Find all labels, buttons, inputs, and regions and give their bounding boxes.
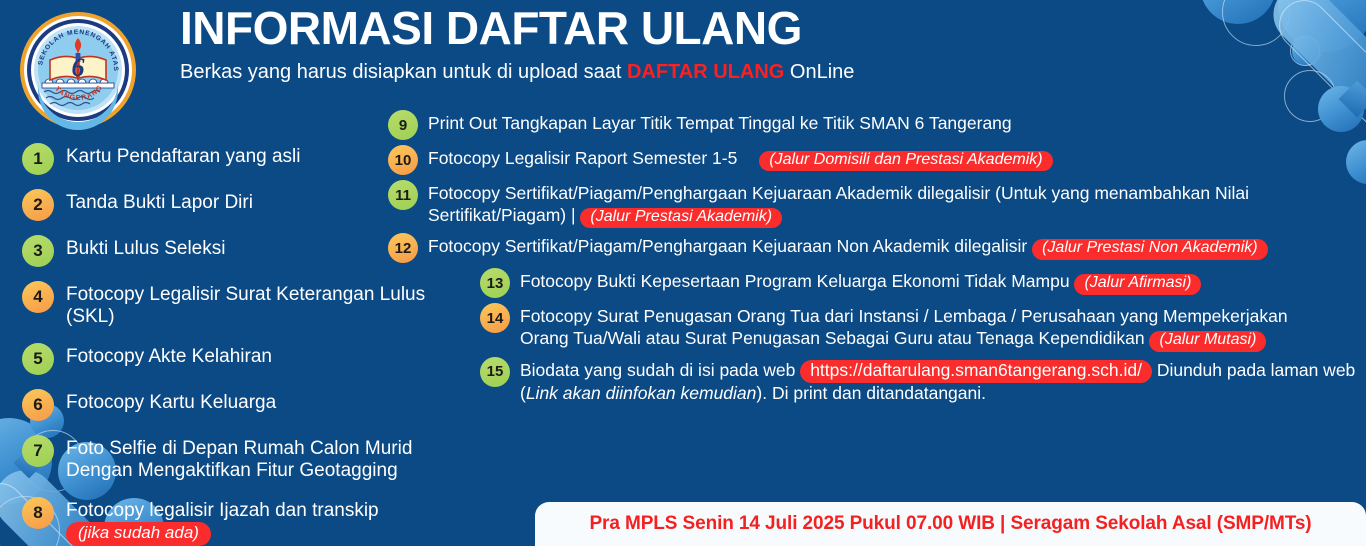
item-text-main: Fotocopy Bukti Kepesertaan Program Kelua… xyxy=(520,271,1074,291)
list-item: 13 Fotocopy Bukti Kepesertaan Program Ke… xyxy=(480,268,1366,298)
list-item: 2 Tanda Bukti Lapor Diri xyxy=(22,189,442,221)
item-text-main: Fotocopy Sertifikat/Piagam/Penghargaan K… xyxy=(428,236,1032,256)
item-tag-pill: (jika sudah ada) xyxy=(66,522,211,546)
page-title: INFORMASI DAFTAR ULANG xyxy=(180,4,1190,54)
item-tag-pill: (Jalur Mutasi) xyxy=(1149,331,1266,351)
subtitle-highlight: DAFTAR ULANG xyxy=(627,61,784,83)
item-text: Print Out Tangkapan Layar Titik Tempat T… xyxy=(428,110,1012,135)
item-text: Biodata yang sudah di isi pada web https… xyxy=(520,357,1366,406)
item-number-badge: 9 xyxy=(388,110,418,140)
item-text: Foto Selfie di Depan Rumah Calon Murid D… xyxy=(66,435,442,483)
item-tag-pill: (Jalur Domisili dan Prestasi Akademik) xyxy=(759,151,1052,171)
list-item: 1 Kartu Pendaftaran yang asli xyxy=(22,143,442,175)
decor-bubble xyxy=(1200,0,1276,24)
item-number-badge: 14 xyxy=(480,303,510,333)
item-number-badge: 13 xyxy=(480,268,510,298)
bottom-banner: Pra MPLS Senin 14 Juli 2025 Pukul 07.00 … xyxy=(535,502,1366,546)
item-number-badge: 12 xyxy=(388,233,418,263)
decor-bubble-ring xyxy=(1290,36,1320,66)
item-text: Fotocopy Sertifikat/Piagam/Penghargaan K… xyxy=(428,180,1366,228)
school-logo-svg: 6 SEKOLAH MENENGAH ATAS NEGERI TANGERANG xyxy=(18,10,138,130)
list-item: 7 Foto Selfie di Depan Rumah Calon Murid… xyxy=(22,435,442,483)
item-tag-pill: (Jalur Prestasi Akademik) xyxy=(580,208,782,228)
biodata-url-link[interactable]: https://daftarulang.sman6tangerang.sch.i… xyxy=(800,360,1152,384)
logo-number: 6 xyxy=(72,53,85,82)
item-number-badge: 8 xyxy=(22,497,54,529)
item-number-badge: 6 xyxy=(22,389,54,421)
item-text-main: Fotocopy Sertifikat/Piagam/Penghargaan K… xyxy=(428,183,1249,225)
poster-root: 6 SEKOLAH MENENGAH ATAS NEGERI TANGERANG… xyxy=(0,0,1366,546)
item-text: Fotocopy Surat Penugasan Orang Tua dari … xyxy=(520,303,1320,351)
right-requirements-list: 9 Print Out Tangkapan Layar Titik Tempat… xyxy=(388,110,1366,410)
item-text-before: Biodata yang sudah di isi pada web xyxy=(520,360,800,380)
item-number-badge: 7 xyxy=(22,435,54,467)
item-text: Fotocopy Bukti Kepesertaan Program Kelua… xyxy=(520,268,1201,294)
item-tag-pill: (Jalur Afirmasi) xyxy=(1074,274,1201,294)
decor-pill xyxy=(1261,0,1366,121)
list-item: 4 Fotocopy Legalisir Surat Keterangan Lu… xyxy=(22,281,442,329)
item-text: Fotocopy Kartu Keluarga xyxy=(66,389,276,414)
subtitle-before: Berkas yang harus disiapkan untuk di upl… xyxy=(180,61,627,83)
left-requirements-list: 1 Kartu Pendaftaran yang asli 2 Tanda Bu… xyxy=(22,143,442,546)
item-text-main: Fotocopy Legalisir Raport Semester 1-5 xyxy=(428,148,737,168)
item-text: Fotocopy Sertifikat/Piagam/Penghargaan K… xyxy=(428,233,1268,259)
list-item: 10 Fotocopy Legalisir Raport Semester 1-… xyxy=(388,145,1366,175)
list-item: 15 Biodata yang sudah di isi pada web ht… xyxy=(480,357,1366,406)
decor-bubble xyxy=(1278,0,1366,52)
banner-text: Pra MPLS Senin 14 Juli 2025 Pukul 07.00 … xyxy=(589,513,1311,535)
item-number-badge: 15 xyxy=(480,357,510,387)
item-text-main: Fotocopy legalisir Ijazah dan transkip xyxy=(66,500,379,521)
decor-bubble-ring xyxy=(1222,0,1290,46)
item-number-badge: 4 xyxy=(22,281,54,313)
list-item: 5 Fotocopy Akte Kelahiran xyxy=(22,343,442,375)
page-subtitle: Berkas yang harus disiapkan untuk di upl… xyxy=(180,60,1190,84)
item-number-badge: 5 xyxy=(22,343,54,375)
decor-bubble xyxy=(1292,36,1322,66)
item-text: Fotocopy legalisir Ijazah dan transkip (… xyxy=(66,497,442,546)
item-number-badge: 2 xyxy=(22,189,54,221)
item-text: Fotocopy Legalisir Raport Semester 1-5(J… xyxy=(428,145,1053,171)
item-text: Fotocopy Legalisir Surat Keterangan Lulu… xyxy=(66,281,442,329)
item-text: Fotocopy Akte Kelahiran xyxy=(66,343,272,368)
item-tag-pill: (Jalur Prestasi Non Akademik) xyxy=(1032,239,1267,259)
list-item: 3 Bukti Lulus Seleksi xyxy=(22,235,442,267)
item-text-after: ). Di print dan ditandatangani. xyxy=(756,383,986,403)
list-item: 11 Fotocopy Sertifikat/Piagam/Penghargaa… xyxy=(388,180,1366,228)
item-text: Tanda Bukti Lapor Diri xyxy=(66,189,253,214)
list-item: 6 Fotocopy Kartu Keluarga xyxy=(22,389,442,421)
item-number-badge: 1 xyxy=(22,143,54,175)
list-item: 8 Fotocopy legalisir Ijazah dan transkip… xyxy=(22,497,442,546)
list-item: 9 Print Out Tangkapan Layar Titik Tempat… xyxy=(388,110,1366,140)
list-item: 12 Fotocopy Sertifikat/Piagam/Penghargaa… xyxy=(388,233,1366,263)
item-text: Bukti Lulus Seleksi xyxy=(66,235,225,260)
list-item: 14 Fotocopy Surat Penugasan Orang Tua da… xyxy=(480,303,1366,351)
item-number-badge: 11 xyxy=(388,180,418,210)
item-number-badge: 10 xyxy=(388,145,418,175)
header: INFORMASI DAFTAR ULANG Berkas yang harus… xyxy=(180,4,1190,84)
subtitle-after: OnLine xyxy=(784,61,854,83)
school-logo: 6 SEKOLAH MENENGAH ATAS NEGERI TANGERANG xyxy=(18,10,138,130)
item-number-badge: 3 xyxy=(22,235,54,267)
item-text-italic: Link akan diinfokan kemudian xyxy=(526,383,757,403)
item-text: Kartu Pendaftaran yang asli xyxy=(66,143,301,168)
